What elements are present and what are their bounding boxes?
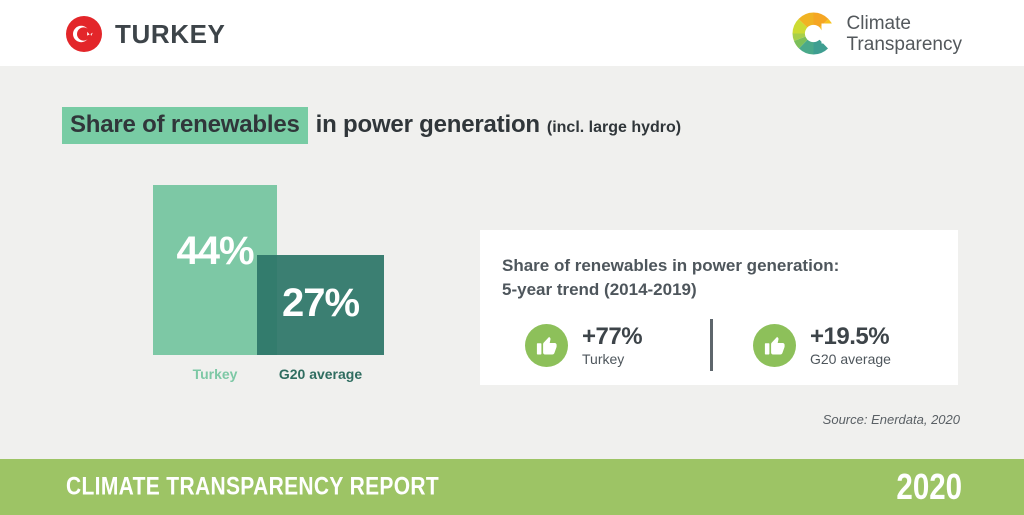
footer-title: CLIMATE TRANSPARENCY REPORT bbox=[66, 473, 439, 502]
source-note: Source: Enerdata, 2020 bbox=[823, 412, 960, 427]
trend-card-heading-line-2: 5-year trend (2014-2019) bbox=[502, 278, 839, 302]
trend-stat-g20-average-label: G20 average bbox=[810, 352, 891, 367]
brand-line-1: Climate bbox=[847, 13, 962, 34]
renewables-bar-chart: 44% 27% Turkey G20 average bbox=[150, 185, 400, 390]
thumbs-up-icon bbox=[753, 324, 796, 367]
trend-card: Share of renewables in power generation:… bbox=[480, 230, 958, 385]
trend-stat-turkey: +77% Turkey bbox=[502, 324, 710, 367]
trend-stat-turkey-text: +77% Turkey bbox=[582, 324, 642, 367]
bar-g20-average: 27% bbox=[257, 255, 384, 355]
page-header: TURKEY Climate Transpare bbox=[0, 0, 1024, 66]
bar-label-g20-average: G20 average bbox=[257, 366, 384, 382]
trend-stat-turkey-label: Turkey bbox=[582, 352, 642, 367]
trend-card-heading-line-1: Share of renewables in power generation: bbox=[502, 254, 839, 278]
brand-name: Climate Transparency bbox=[847, 13, 962, 55]
bar-value-g20-average: 27% bbox=[282, 283, 359, 323]
brand-identity: Climate Transparency bbox=[791, 11, 962, 56]
brand-line-2: Transparency bbox=[847, 34, 962, 55]
page-title: Share of renewables in power generation … bbox=[62, 107, 681, 144]
country-identity: TURKEY bbox=[66, 16, 226, 52]
page-title-note: (incl. large hydro) bbox=[547, 119, 681, 137]
climate-transparency-logo-icon bbox=[791, 11, 836, 56]
page-title-rest: in power generation bbox=[316, 111, 540, 139]
country-name: TURKEY bbox=[115, 19, 226, 50]
trend-stat-g20-average-value: +19.5% bbox=[810, 324, 891, 349]
page-footer: CLIMATE TRANSPARENCY REPORT 2020 bbox=[0, 459, 1024, 515]
turkey-flag-icon bbox=[66, 16, 102, 52]
trend-stat-g20-average-text: +19.5% G20 average bbox=[810, 324, 891, 367]
trend-stat-turkey-value: +77% bbox=[582, 324, 642, 349]
trend-card-heading: Share of renewables in power generation:… bbox=[502, 254, 839, 302]
trend-stats: +77% Turkey +19.5% G20 average bbox=[502, 319, 928, 371]
bar-value-turkey: 44% bbox=[176, 231, 253, 271]
page-title-highlight: Share of renewables bbox=[62, 107, 308, 144]
trend-stat-g20-average: +19.5% G20 average bbox=[713, 324, 928, 367]
thumbs-up-icon bbox=[525, 324, 568, 367]
footer-year: 2020 bbox=[896, 466, 962, 508]
